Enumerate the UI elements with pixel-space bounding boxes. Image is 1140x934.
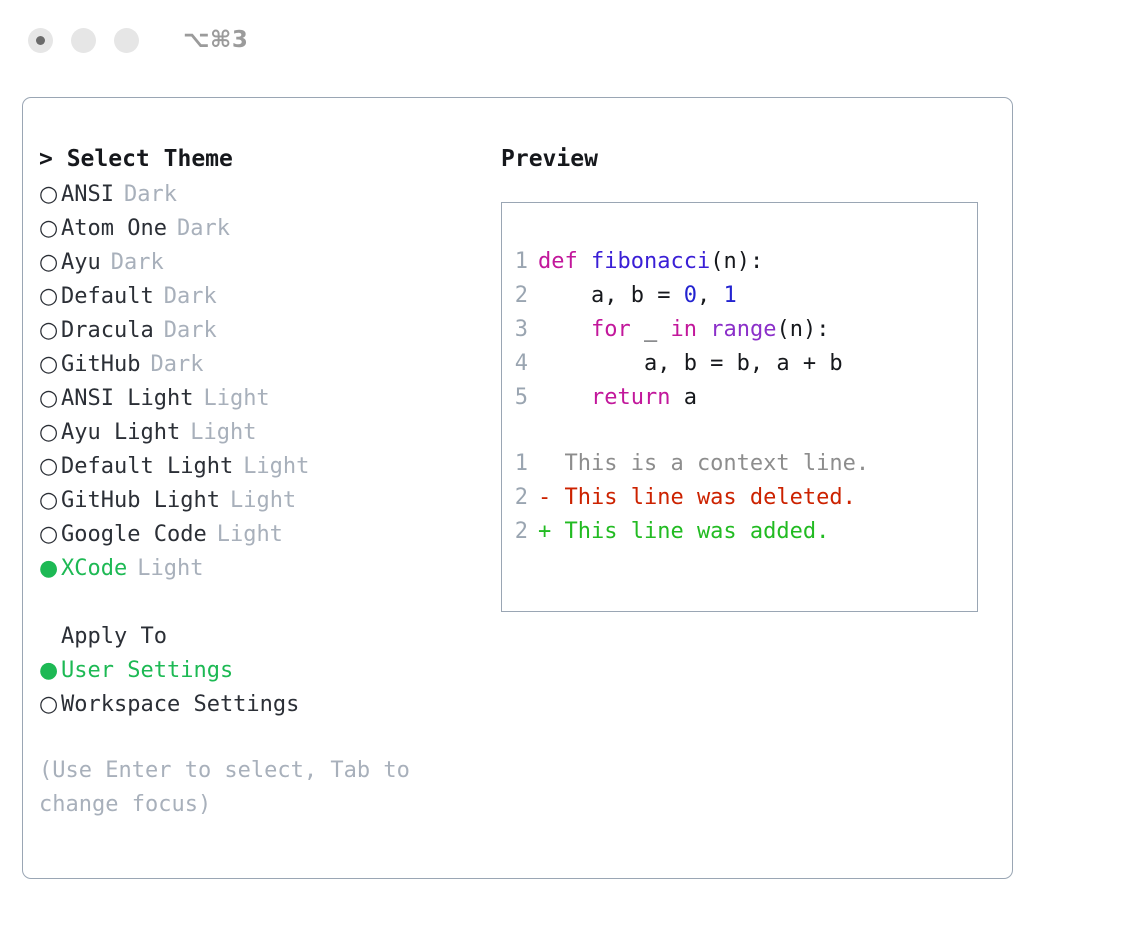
theme-variant-tag: Dark xyxy=(164,280,217,314)
diff-sample: 1 This is a context line.2- This line wa… xyxy=(502,447,977,549)
code-token: 1 xyxy=(723,283,736,308)
radio-selected-icon[interactable]: ● xyxy=(39,654,61,688)
line-number: 1 xyxy=(502,245,538,279)
theme-option-label: XCode xyxy=(61,552,127,586)
code-preview-box: 1def fibonacci(n):2 a, b = 0, 13 for _ i… xyxy=(501,202,978,612)
window-dot-minimize[interactable] xyxy=(71,28,96,53)
theme-option[interactable]: ○Google CodeLight xyxy=(39,518,479,552)
radio-unselected-icon[interactable]: ○ xyxy=(39,246,61,280)
theme-option[interactable]: ○GitHub LightLight xyxy=(39,484,479,518)
theme-variant-tag: Light xyxy=(217,518,283,552)
line-number: 4 xyxy=(502,347,538,381)
theme-variant-tag: Dark xyxy=(111,246,164,280)
theme-option[interactable]: ○Ayu LightLight xyxy=(39,416,479,450)
code-token: def xyxy=(538,249,591,274)
theme-variant-tag: Dark xyxy=(164,314,217,348)
theme-variant-tag: Dark xyxy=(150,348,203,382)
code-token: for xyxy=(591,317,631,342)
theme-option[interactable]: ○Default LightLight xyxy=(39,450,479,484)
theme-variant-tag: Light xyxy=(203,382,269,416)
code-token: in xyxy=(670,317,697,342)
theme-option[interactable]: ○ANSI LightLight xyxy=(39,382,479,416)
theme-option-label: Ayu Light xyxy=(61,416,180,450)
radio-unselected-icon[interactable]: ○ xyxy=(39,382,61,416)
code-token: range xyxy=(710,317,776,342)
diff-line-content: - This line was deleted. xyxy=(538,481,856,515)
code-line-content: for _ in range(n): xyxy=(538,313,829,347)
window-dot-maximize[interactable] xyxy=(114,28,139,53)
theme-option-label: Google Code xyxy=(61,518,207,552)
code-token xyxy=(538,385,591,410)
theme-option-label: GitHub Light xyxy=(61,484,220,518)
radio-unselected-icon[interactable]: ○ xyxy=(39,348,61,382)
theme-option[interactable]: ○AyuDark xyxy=(39,246,479,280)
theme-option-label: Ayu xyxy=(61,246,101,280)
theme-option-label: Default Light xyxy=(61,450,233,484)
code-line: 2 a, b = 0, 1 xyxy=(502,279,977,313)
keyboard-shortcut-label: ⌥⌘3 xyxy=(183,27,248,53)
code-token: a, b = xyxy=(538,283,684,308)
diff-line-content: + This line was added. xyxy=(538,515,829,549)
theme-variant-tag: Dark xyxy=(177,212,230,246)
code-token xyxy=(697,317,710,342)
line-number: 3 xyxy=(502,313,538,347)
line-number: 1 xyxy=(502,447,538,481)
radio-unselected-icon[interactable]: ○ xyxy=(39,280,61,314)
radio-unselected-icon[interactable]: ○ xyxy=(39,518,61,552)
code-token: a xyxy=(670,385,697,410)
code-token: (n): xyxy=(776,317,829,342)
radio-unselected-icon[interactable]: ○ xyxy=(39,450,61,484)
window-dot-close[interactable] xyxy=(28,28,53,53)
theme-option[interactable]: ●XCodeLight xyxy=(39,552,479,586)
theme-option-label: Atom One xyxy=(61,212,167,246)
radio-unselected-icon[interactable]: ○ xyxy=(39,688,61,722)
line-number: 5 xyxy=(502,381,538,415)
code-line-content: return a xyxy=(538,381,697,415)
theme-variant-tag: Dark xyxy=(124,178,177,212)
code-token: fibonacci xyxy=(591,249,710,274)
diff-line: 2- This line was deleted. xyxy=(502,481,977,515)
theme-list[interactable]: ○ANSIDark○Atom OneDark○AyuDark○DefaultDa… xyxy=(39,178,479,586)
code-line: 3 for _ in range(n): xyxy=(502,313,977,347)
theme-selector-column: > Select Theme ○ANSIDark○Atom OneDark○Ay… xyxy=(39,146,479,822)
apply-to-header: Apply To xyxy=(39,620,479,654)
theme-option[interactable]: ○DefaultDark xyxy=(39,280,479,314)
radio-unselected-icon[interactable]: ○ xyxy=(39,212,61,246)
radio-unselected-icon[interactable]: ○ xyxy=(39,178,61,212)
code-line-content: a, b = 0, 1 xyxy=(538,279,737,313)
diff-line: 2+ This line was added. xyxy=(502,515,977,549)
theme-variant-tag: Light xyxy=(190,416,256,450)
diff-line: 1 This is a context line. xyxy=(502,447,977,481)
theme-option-label: Dracula xyxy=(61,314,154,348)
code-sample: 1def fibonacci(n):2 a, b = 0, 13 for _ i… xyxy=(502,245,977,415)
radio-unselected-icon[interactable]: ○ xyxy=(39,314,61,348)
main-panel: > Select Theme ○ANSIDark○Atom OneDark○Ay… xyxy=(22,97,1013,879)
preview-title: Preview xyxy=(501,146,1001,172)
diff-line-content: This is a context line. xyxy=(538,447,869,481)
line-number: 2 xyxy=(502,481,538,515)
app-window: ⌥⌘3 > Select Theme ○ANSIDark○Atom OneDar… xyxy=(0,0,1140,934)
apply-to-option-label: Workspace Settings xyxy=(61,688,299,722)
theme-variant-tag: Light xyxy=(243,450,309,484)
select-theme-header: > Select Theme xyxy=(39,146,479,172)
code-token: (n): xyxy=(710,249,763,274)
theme-option[interactable]: ○GitHubDark xyxy=(39,348,479,382)
keyboard-hint: (Use Enter to select, Tab to change focu… xyxy=(39,754,449,822)
radio-selected-icon[interactable]: ● xyxy=(39,552,61,586)
theme-option[interactable]: ○ANSIDark xyxy=(39,178,479,212)
line-number: 2 xyxy=(502,515,538,549)
code-token xyxy=(538,317,591,342)
theme-option[interactable]: ○Atom OneDark xyxy=(39,212,479,246)
code-line: 5 return a xyxy=(502,381,977,415)
apply-to-option[interactable]: ●User Settings xyxy=(39,654,479,688)
apply-to-option[interactable]: ○Workspace Settings xyxy=(39,688,479,722)
radio-unselected-icon[interactable]: ○ xyxy=(39,416,61,450)
code-line: 1def fibonacci(n): xyxy=(502,245,977,279)
code-token: return xyxy=(591,385,670,410)
code-diff-spacer xyxy=(502,415,977,447)
code-line: 4 a, b = b, a + b xyxy=(502,347,977,381)
line-number: 2 xyxy=(502,279,538,313)
preview-column: Preview 1def fibonacci(n):2 a, b = 0, 13… xyxy=(501,146,1001,612)
theme-option[interactable]: ○DraculaDark xyxy=(39,314,479,348)
code-token: 0 xyxy=(684,283,697,308)
theme-option-label: ANSI xyxy=(61,178,114,212)
theme-option-label: Default xyxy=(61,280,154,314)
code-line-content: def fibonacci(n): xyxy=(538,245,763,279)
radio-unselected-icon[interactable]: ○ xyxy=(39,484,61,518)
apply-to-list[interactable]: ●User Settings○Workspace Settings xyxy=(39,654,479,722)
window-controls xyxy=(28,28,139,53)
theme-option-label: GitHub xyxy=(61,348,140,382)
theme-variant-tag: Light xyxy=(230,484,296,518)
theme-variant-tag: Light xyxy=(137,552,203,586)
list-spacer xyxy=(39,586,479,620)
code-token: _ xyxy=(631,317,671,342)
code-token: a, b = b, a + b xyxy=(538,351,843,376)
theme-option-label: ANSI Light xyxy=(61,382,193,416)
title-bar: ⌥⌘3 xyxy=(0,0,1140,80)
code-token: , xyxy=(697,283,724,308)
apply-to-option-label: User Settings xyxy=(61,654,233,688)
code-line-content: a, b = b, a + b xyxy=(538,347,843,381)
